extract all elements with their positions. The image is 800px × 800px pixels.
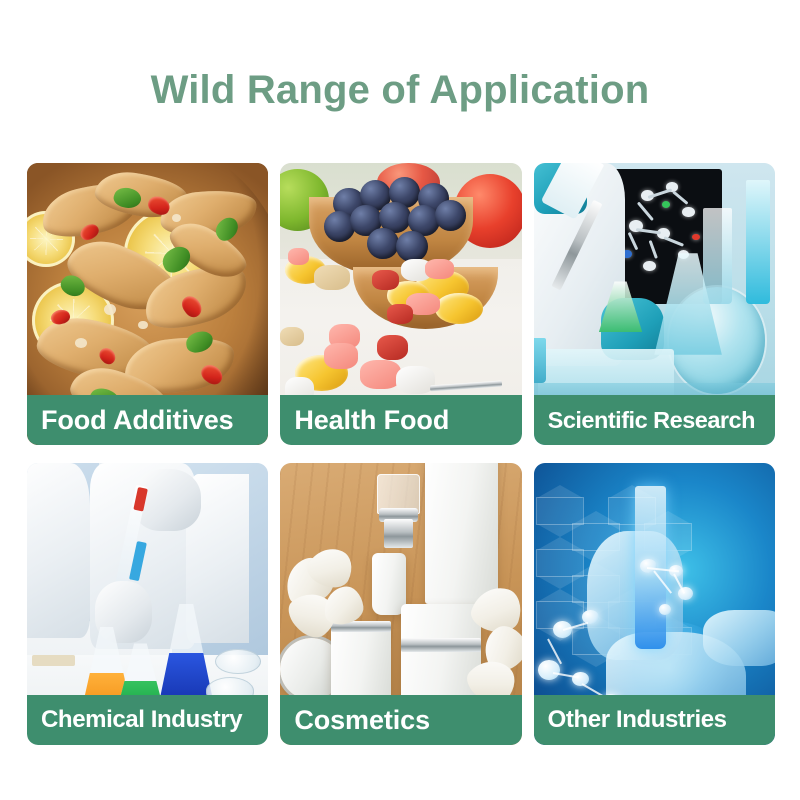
blueberry: [367, 228, 398, 259]
application-card-chemical-industry[interactable]: Chemical Industry: [27, 463, 268, 745]
garlic-bit: [75, 338, 87, 348]
application-label-bar: Food Additives: [27, 395, 268, 445]
molecule-bond: [649, 240, 658, 258]
molecule-node: [682, 207, 695, 218]
molecule-bond: [628, 232, 639, 250]
application-label: Cosmetics: [294, 705, 430, 735]
application-card-other-industries[interactable]: Other Industries: [534, 463, 775, 745]
application-label-bar: Cosmetics: [280, 695, 521, 745]
blueberry: [396, 231, 427, 262]
tablet: [324, 343, 358, 368]
tablet: [288, 248, 310, 265]
molecule-node: [538, 660, 560, 680]
application-label: Scientific Research: [548, 405, 755, 435]
tablet: [425, 259, 454, 279]
tablet: [372, 270, 399, 290]
application-card-health-food[interactable]: Health Food: [280, 163, 521, 445]
tablet: [377, 335, 408, 360]
tablet: [396, 366, 435, 394]
application-card-cosmetics[interactable]: Cosmetics: [280, 463, 521, 745]
softgel-capsule: [435, 293, 483, 324]
application-label-bar: Health Food: [280, 395, 521, 445]
lotion-bottle: [425, 463, 497, 604]
page-title: Wild Range of Application: [0, 66, 800, 114]
application-poster: Wild Range of Application: [0, 0, 800, 800]
tablet: [280, 327, 304, 347]
application-card-food-additives[interactable]: Food Additives: [27, 163, 268, 445]
molecule-bond: [672, 191, 688, 205]
applicator-stick: [430, 380, 503, 391]
molecule-bond: [637, 202, 654, 222]
molecule-node-green: [662, 201, 670, 208]
molecule-node-red: [692, 234, 700, 241]
test-tube: [534, 338, 546, 383]
application-label-bar: Chemical Industry: [27, 695, 268, 745]
tablet: [360, 360, 401, 388]
garlic-bit: [138, 321, 148, 329]
molecule-bond: [663, 236, 683, 247]
lab-coat: [27, 463, 90, 638]
application-label: Other Industries: [548, 705, 727, 735]
application-grid: Food Additives: [27, 163, 775, 745]
tablet: [314, 265, 350, 290]
tablet: [387, 304, 414, 324]
jar-rim: [401, 638, 481, 652]
pump-head: [384, 519, 413, 547]
application-label-bar: Scientific Research: [534, 395, 775, 445]
application-label: Chemical Industry: [41, 705, 242, 735]
thumb: [703, 610, 775, 666]
application-label: Health Food: [294, 405, 449, 435]
application-card-scientific-research[interactable]: Scientific Research: [534, 163, 775, 445]
flask-neck: [703, 208, 732, 304]
notebook: [32, 655, 75, 666]
graduated-cylinder: [746, 180, 770, 304]
application-label: Food Additives: [41, 405, 234, 435]
molecule-node: [643, 261, 656, 272]
blueberry: [435, 200, 466, 231]
application-label-bar: Other Industries: [534, 695, 775, 745]
